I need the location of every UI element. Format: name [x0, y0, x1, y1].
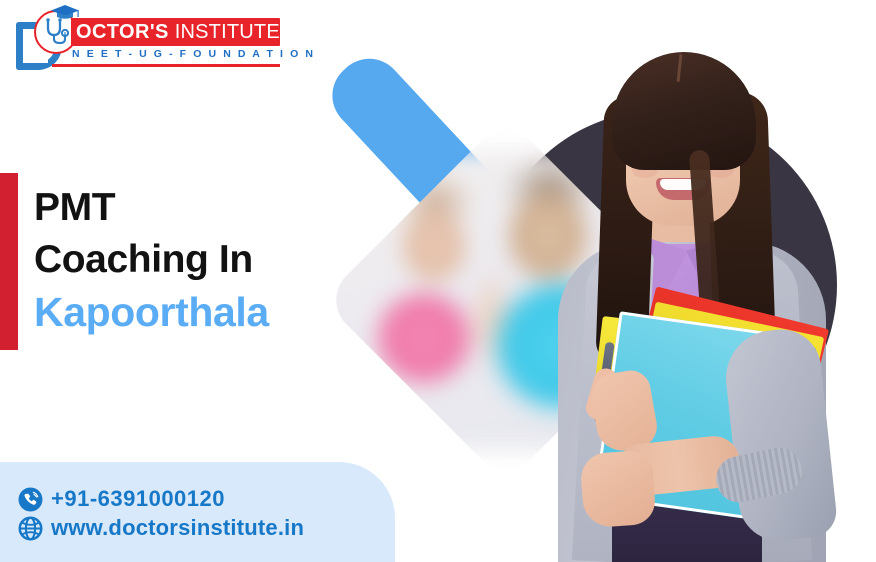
website-contact-row[interactable]: www.doctorsinstitute.in [18, 515, 304, 541]
logo-tagline: N E E T - U G - F O U N D A T I O N [72, 48, 280, 60]
logo-brand-text: OCTOR'S INSTITUTE [76, 20, 280, 44]
phone-contact-row[interactable]: +91-6391000120 [18, 486, 225, 512]
headline-line-2: Coaching In [34, 234, 374, 286]
promo-banner: OCTOR'S INSTITUTE N E E T - U G - F O U … [0, 0, 876, 562]
website-url: www.doctorsinstitute.in [51, 515, 304, 541]
headline-line-3-location: Kapoorthala [34, 286, 374, 338]
stethoscope-icon [43, 18, 69, 46]
hand-lower [580, 450, 657, 529]
phone-number: +91-6391000120 [51, 486, 225, 512]
phone-icon [18, 487, 43, 512]
student-photo [520, 0, 876, 562]
logo-red-banner: OCTOR'S INSTITUTE [71, 18, 280, 46]
page-title: PMT Coaching In Kapoorthala [34, 182, 374, 338]
hair-top [612, 52, 756, 170]
brand-logo[interactable]: OCTOR'S INSTITUTE N E E T - U G - F O U … [14, 12, 280, 74]
contact-panel: +91-6391000120 www.doctorsinstitute.in [0, 462, 395, 562]
logo-underline [52, 64, 280, 67]
globe-icon [18, 516, 43, 541]
headline-accent-rule [0, 173, 18, 350]
headline-line-1: PMT [34, 182, 374, 234]
